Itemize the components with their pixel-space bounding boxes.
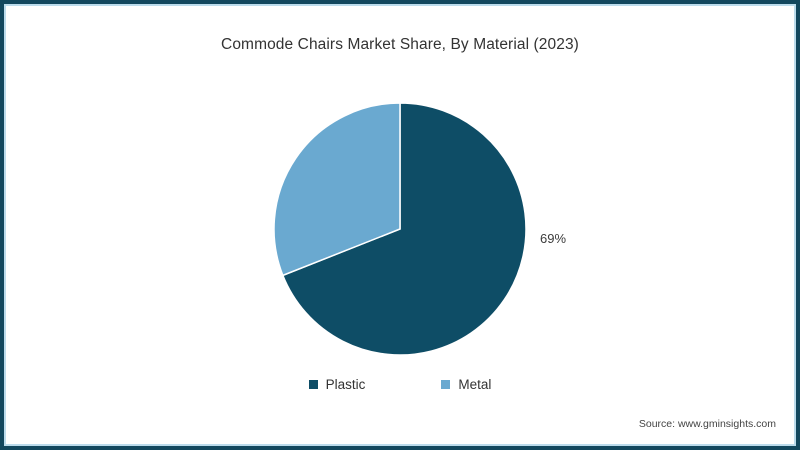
page-title: Commode Chairs Market Share, By Material… <box>6 36 794 54</box>
legend-item-plastic[interactable]: Plastic <box>309 377 366 392</box>
legend-item-label: Metal <box>458 377 491 392</box>
chart-canvas: Commode Chairs Market Share, By Material… <box>6 6 794 444</box>
source-attribution: Source: www.gminsights.com <box>639 418 776 430</box>
pie-chart <box>271 100 529 358</box>
chart-legend: Plastic Metal <box>6 377 794 392</box>
pie-chart-svg <box>271 100 529 358</box>
square-swatch-icon <box>441 380 450 389</box>
pie-slice-label-plastic: 69% <box>540 231 566 246</box>
square-swatch-icon <box>309 380 318 389</box>
chart-page: Commode Chairs Market Share, By Material… <box>0 0 800 450</box>
legend-item-label: Plastic <box>326 377 366 392</box>
legend-item-metal[interactable]: Metal <box>441 377 491 392</box>
